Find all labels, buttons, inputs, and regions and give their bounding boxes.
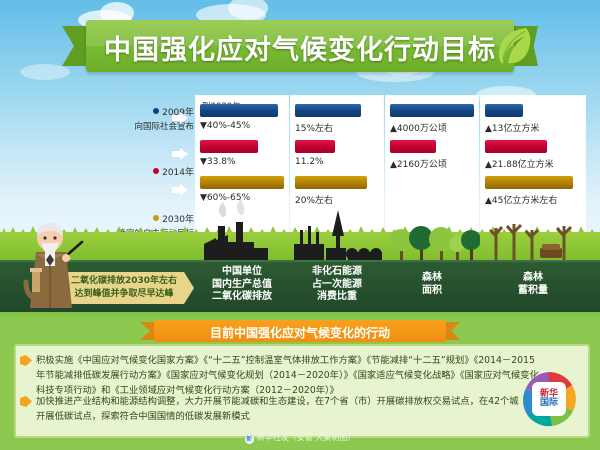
- legend-dot-red: [153, 168, 159, 174]
- column-caption-3: 森林面积: [386, 272, 478, 297]
- bar-value: ▲13亿立方米: [485, 121, 539, 134]
- peak-line-2: 达到峰值并争取尽早达峰: [74, 289, 173, 299]
- timber-icon: [486, 206, 582, 260]
- logo-badge: 新华 国际: [532, 382, 566, 416]
- page-title: 中国强化应对气候变化行动目标: [62, 28, 538, 67]
- action-paragraph-1: 积极实施《中国应对气候变化国家方案》《“十二五”控制温室气体排放工作方案》《节能…: [36, 353, 542, 398]
- arrow-right-icon: [172, 112, 188, 124]
- bar-value: ▼40%-45%: [200, 121, 250, 131]
- soil-highlight: [0, 260, 600, 262]
- bar-gold: [485, 176, 573, 189]
- column-caption-1: 中国单位国内生产总值二氧化碳排放: [196, 266, 288, 304]
- bullet-arrow-icon: [20, 396, 32, 407]
- action-paragraph-2: 加快推进产业结构和能源结构调整，大力开展节能减碳和生态建设，在7个省（市）开展碳…: [36, 394, 542, 424]
- credit-line: 新新华社发（安蕾 大巢制图）: [0, 432, 600, 444]
- bar-blue: [390, 104, 474, 117]
- bar-value: ▲21.88亿立方米: [485, 157, 554, 170]
- bar-value: ▲4000万公顷: [390, 121, 447, 134]
- xinhua-mark-icon: 新: [245, 435, 254, 444]
- credit-text: 新华社发（安蕾 大巢制图）: [257, 433, 356, 442]
- bar-value: 15%左右: [295, 121, 333, 134]
- bar-blue: [200, 104, 278, 117]
- bullet-arrow-icon: [20, 355, 32, 366]
- bar-blue: [485, 104, 523, 117]
- logo-line-2: 国际: [540, 399, 558, 408]
- bar-red: [485, 140, 547, 153]
- bar-value: ▲45亿立方米左右: [485, 193, 557, 206]
- bar-red: [390, 140, 436, 153]
- arrow-right-icon: [172, 148, 188, 160]
- legend-year: 2014年: [162, 168, 194, 178]
- leaf-icon: [492, 24, 532, 68]
- infographic-root: 中国强化应对气候变化行动目标 2009年 向国际社会宣布 到2020年 2014…: [0, 0, 600, 450]
- bar-gold: [200, 176, 284, 189]
- bar-value: ▲2160万公顷: [390, 157, 447, 170]
- bar-red: [295, 140, 335, 153]
- legend-item-2014: 2014年: [86, 160, 194, 179]
- title-ribbon: 中国强化应对气候变化行动目标: [62, 20, 538, 72]
- arrow-right-icon: [172, 184, 188, 196]
- bar-value: 20%左右: [295, 193, 333, 206]
- section-title: 目前中国强化应对气候变化的行动: [140, 324, 460, 341]
- bar-value: 11.2%: [295, 157, 324, 167]
- bar-value: ▼33.8%: [200, 157, 236, 167]
- legend-dot-blue: [153, 108, 159, 114]
- trees-icon: [388, 206, 480, 260]
- legend-year: 2030年: [162, 215, 194, 225]
- old-man-illustration: [14, 222, 88, 314]
- refinery-icon: [292, 206, 384, 260]
- factory-icon: [198, 196, 286, 260]
- section-banner: 目前中国强化应对气候变化的行动: [140, 320, 460, 342]
- column-caption-2: 非化石能源占一次能源消费比重: [291, 266, 383, 304]
- column-caption-4: 森林蓄积量: [481, 272, 585, 297]
- bar-blue: [295, 104, 361, 117]
- bar-gold: [295, 176, 367, 189]
- legend-dot-gold: [153, 215, 159, 221]
- bar-red: [200, 140, 258, 153]
- xinhua-logo: 新华 国际: [518, 368, 580, 430]
